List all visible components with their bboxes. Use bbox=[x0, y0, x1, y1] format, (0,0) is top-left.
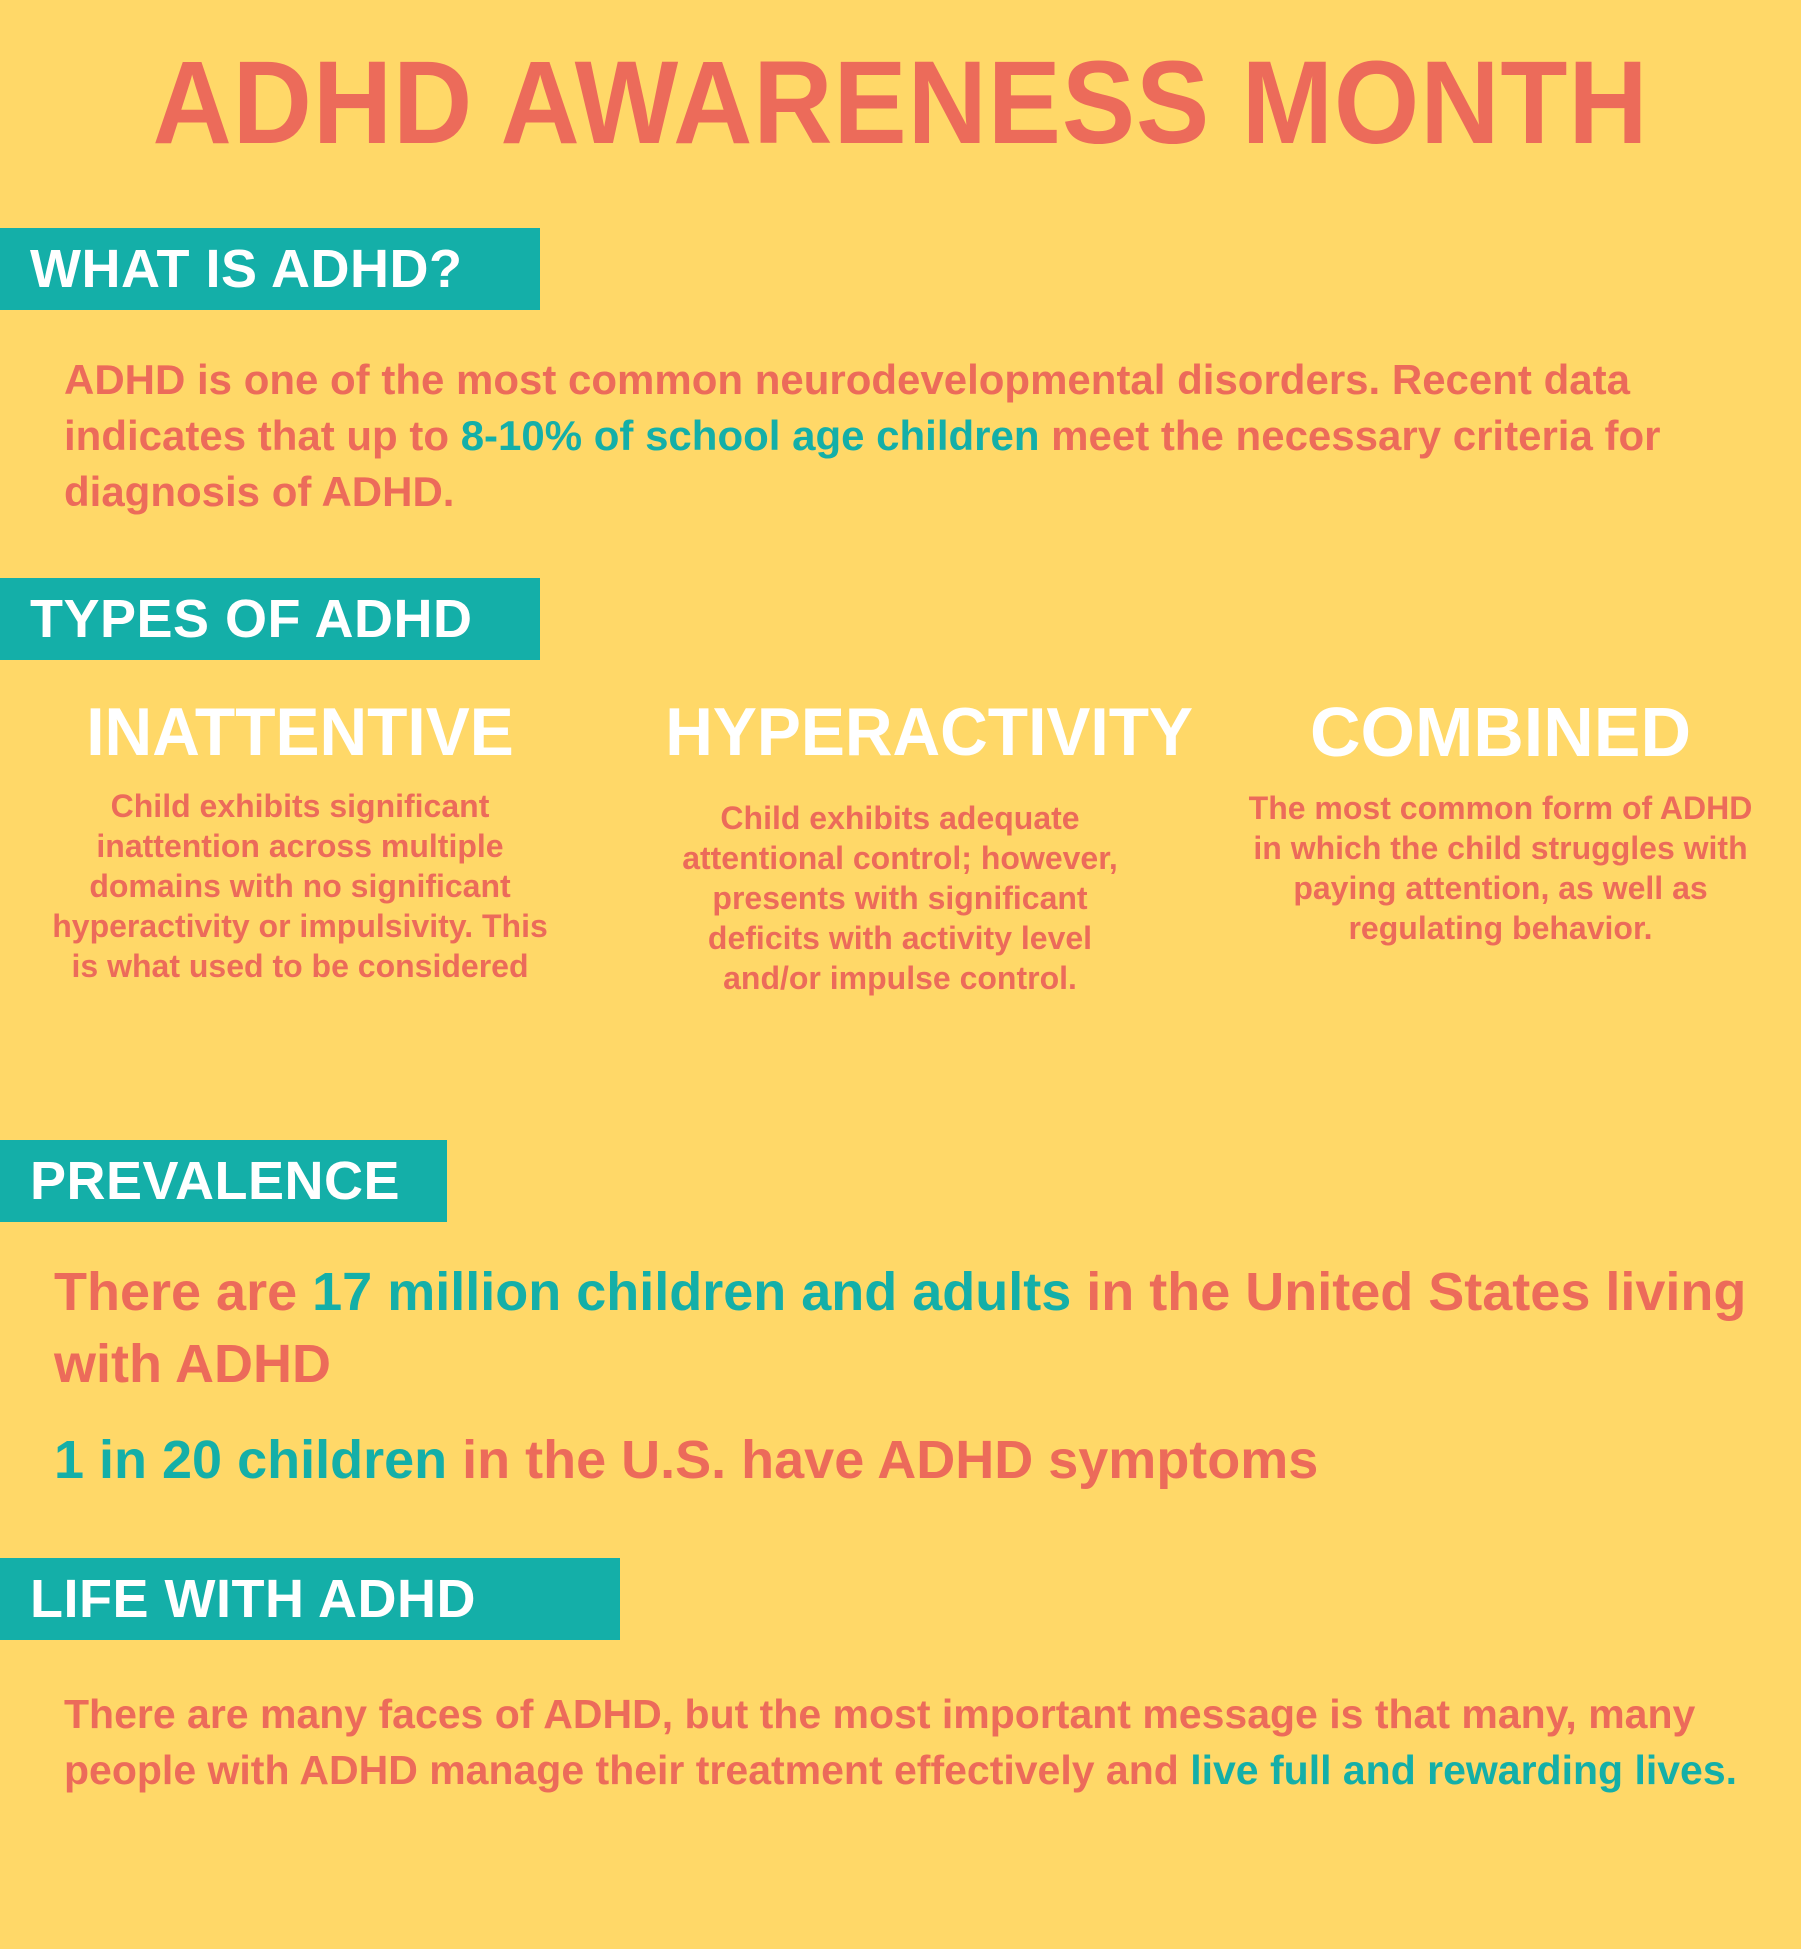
type-title-combined: COMBINED bbox=[1248, 690, 1753, 774]
type-column-combined: COMBINED The most common form of ADHD in… bbox=[1200, 690, 1801, 998]
type-column-inattentive: INATTENTIVE Child exhibits significant i… bbox=[0, 690, 600, 998]
what-is-adhd-paragraph: ADHD is one of the most common neurodeve… bbox=[64, 352, 1744, 520]
prevalence-2-part-2: in the U.S. have ADHD symptoms bbox=[447, 1430, 1318, 1490]
prevalence-1-highlight: 17 million children and adults bbox=[312, 1262, 1071, 1322]
page-title: ADHD AWARENESS MONTH bbox=[63, 44, 1738, 162]
prevalence-2-highlight: 1 in 20 children bbox=[54, 1430, 447, 1490]
types-of-adhd-columns: INATTENTIVE Child exhibits significant i… bbox=[0, 690, 1801, 998]
infographic-poster: ADHD AWARENESS MONTH WHAT IS ADHD? ADHD … bbox=[0, 0, 1801, 1949]
type-body-inattentive: Child exhibits significant inattention a… bbox=[40, 786, 560, 986]
section-header-prevalence: PREVALENCE bbox=[0, 1140, 447, 1222]
what-is-adhd-highlight: 8-10% of school age children bbox=[461, 412, 1040, 459]
section-header-life-with-adhd: LIFE WITH ADHD bbox=[0, 1558, 620, 1640]
type-column-hyperactivity: HYPERACTIVITY Child exhibits adequate at… bbox=[600, 690, 1200, 998]
type-title-inattentive: INATTENTIVE bbox=[48, 690, 552, 774]
prevalence-statement-1: There are 17 million children and adults… bbox=[54, 1256, 1774, 1400]
type-title-hyperactivity: HYPERACTIVITY bbox=[665, 690, 1134, 774]
life-with-adhd-paragraph: There are many faces of ADHD, but the mo… bbox=[64, 1686, 1764, 1798]
prevalence-statement-2: 1 in 20 children in the U.S. have ADHD s… bbox=[54, 1424, 1774, 1496]
section-header-types-of-adhd: TYPES OF ADHD bbox=[0, 578, 540, 660]
type-body-hyperactivity: Child exhibits adequate attentional cont… bbox=[658, 798, 1142, 998]
section-header-what-is-adhd: WHAT IS ADHD? bbox=[0, 228, 540, 310]
type-body-combined: The most common form of ADHD in which th… bbox=[1248, 788, 1753, 948]
prevalence-1-part-1: There are bbox=[54, 1262, 312, 1322]
life-with-adhd-highlight: live full and rewarding lives. bbox=[1190, 1747, 1737, 1793]
